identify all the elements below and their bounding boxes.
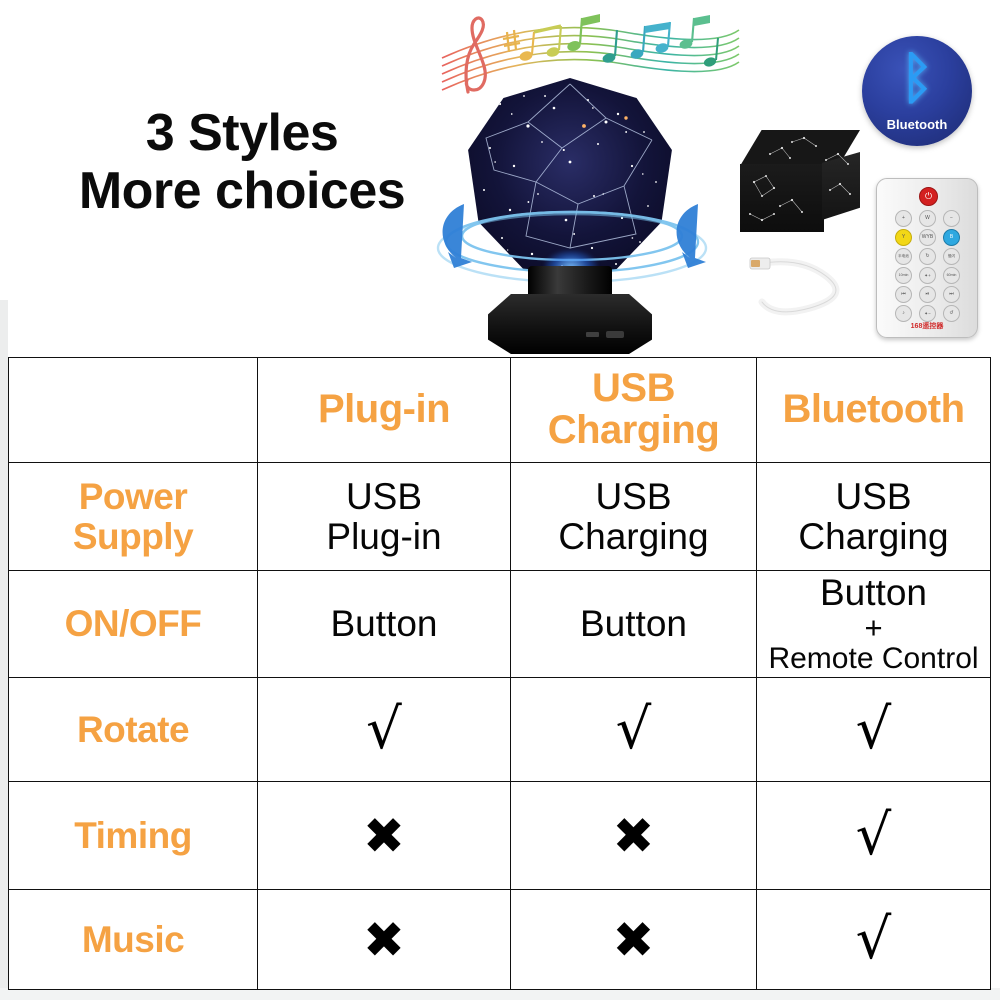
remote-control: ⏻ + W − Y WYB B 半电池 ↻ 慢闪 10min ✦+ 60min …	[876, 178, 978, 338]
remote-button-timer-10min[interactable]: 10min	[895, 267, 912, 284]
table-row-music: Music ✖ ✖ √	[9, 890, 991, 990]
star-projector-lamp	[440, 78, 700, 354]
cell-power-plugin-line-2: Plug-in	[326, 516, 441, 557]
header-cell-feature	[9, 358, 258, 463]
remote-button-half-power[interactable]: 半电池	[895, 248, 912, 265]
cell-onoff-bt-plus: +	[761, 612, 986, 643]
header-cell-plugin: Plug-in	[258, 358, 511, 463]
cell-power-bluetooth: USB Charging	[757, 463, 991, 571]
cross-icon: ✖	[363, 811, 405, 861]
feature-label-music: Music	[9, 890, 258, 990]
cross-icon: ✖	[363, 915, 405, 965]
table-row-on-off: ON/OFF Button Button Button + Remote Con…	[9, 571, 991, 678]
constellation-gift-box	[740, 130, 860, 235]
remote-button-next[interactable]: ⏭	[943, 286, 960, 303]
table-row-timing: Timing ✖ ✖ √	[9, 782, 991, 890]
cell-timing-plugin: ✖	[258, 782, 511, 890]
header-usb-line-1: USB	[592, 366, 675, 410]
cell-power-usb-line-2: Charging	[558, 516, 708, 557]
cell-rotate-plugin: √	[258, 678, 511, 782]
hero-section: 3 Styles More choices	[0, 0, 1000, 357]
cell-onoff-bt-line-2: Remote Control	[761, 643, 986, 675]
remote-button-rotate[interactable]: ↻	[919, 248, 936, 265]
cell-onoff-usb: Button	[511, 571, 757, 678]
feature-power-line-2: Supply	[73, 516, 193, 557]
table-row-power-supply: Power Supply USB Plug-in USB Charging US…	[9, 463, 991, 571]
check-icon: √	[856, 912, 892, 968]
cell-onoff-bt-line-1: Button	[820, 572, 927, 613]
cell-power-plugin-line-1: USB	[346, 476, 422, 517]
gift-box-front	[740, 164, 824, 232]
cell-power-usb: USB Charging	[511, 463, 757, 571]
cell-timing-usb: ✖	[511, 782, 757, 890]
bluetooth-icon: ᛒ	[862, 48, 972, 108]
gift-box-side	[822, 152, 860, 220]
cross-icon: ✖	[613, 811, 655, 861]
remote-button-wyb[interactable]: WYB	[919, 229, 936, 246]
remote-button-white[interactable]: W	[919, 210, 936, 227]
cell-rotate-usb: √	[511, 678, 757, 782]
remote-button-speed-up[interactable]: ✦+	[919, 267, 936, 284]
check-icon: √	[366, 702, 402, 758]
cell-power-bt-line-2: Charging	[798, 516, 948, 557]
feature-label-rotate: Rotate	[9, 678, 258, 782]
feature-power-line-1: Power	[79, 476, 188, 517]
cell-rotate-bluetooth: √	[757, 678, 991, 782]
remote-button-brightness-up[interactable]: +	[895, 210, 912, 227]
remote-button-previous[interactable]: ⏮	[895, 286, 912, 303]
remote-button-slow-flash[interactable]: 慢闪	[943, 248, 960, 265]
headline-line-1: 3 Styles	[42, 104, 442, 162]
check-icon: √	[616, 702, 652, 758]
cell-power-bt-line-1: USB	[835, 476, 911, 517]
remote-button-blue[interactable]: B	[943, 229, 960, 246]
remote-button-music[interactable]: ♪	[895, 305, 912, 322]
remote-model-label: 168遥控器	[877, 321, 977, 331]
remote-button-yellow[interactable]: Y	[895, 229, 912, 246]
header-cell-bluetooth: Bluetooth	[757, 358, 991, 463]
cell-onoff-bluetooth: Button + Remote Control	[757, 571, 991, 678]
cell-timing-bluetooth: √	[757, 782, 991, 890]
lamp-ports-icon	[584, 328, 630, 342]
product-comparison-infographic: 3 Styles More choices	[0, 0, 1000, 1000]
bluetooth-badge-label: Bluetooth	[862, 117, 972, 132]
cross-icon: ✖	[613, 915, 655, 965]
check-icon: √	[856, 702, 892, 758]
comparison-table: Plug-in USB Charging Bluetooth Power Sup…	[8, 357, 991, 990]
lamp-base	[488, 294, 652, 354]
table-header-row: Plug-in USB Charging Bluetooth	[9, 358, 991, 463]
headline-line-2: More choices	[42, 162, 442, 220]
check-icon: √	[856, 808, 892, 864]
remote-button-loop[interactable]: ↺	[943, 305, 960, 322]
feature-label-power-supply: Power Supply	[9, 463, 258, 571]
cell-onoff-plugin: Button	[258, 571, 511, 678]
remote-power-button[interactable]: ⏻	[919, 187, 938, 206]
remote-button-play-pause[interactable]: ⏯	[919, 286, 936, 303]
usb-cable	[748, 250, 878, 322]
cell-power-plugin: USB Plug-in	[258, 463, 511, 571]
cell-music-plugin: ✖	[258, 890, 511, 990]
remote-button-timer-60min[interactable]: 60min	[943, 267, 960, 284]
remote-button-speed-down[interactable]: ✦−	[919, 305, 936, 322]
page-title: 3 Styles More choices	[42, 104, 442, 220]
bluetooth-badge: ᛒ Bluetooth	[862, 36, 972, 146]
header-usb-line-2: Charging	[548, 408, 720, 452]
header-cell-usb-charging: USB Charging	[511, 358, 757, 463]
feature-label-timing: Timing	[9, 782, 258, 890]
table-row-rotate: Rotate √ √ √	[9, 678, 991, 782]
cell-power-usb-line-1: USB	[595, 476, 671, 517]
feature-label-on-off: ON/OFF	[9, 571, 258, 678]
cell-music-usb: ✖	[511, 890, 757, 990]
cell-music-bluetooth: √	[757, 890, 991, 990]
page-edge-left	[0, 300, 8, 990]
remote-button-brightness-down[interactable]: −	[943, 210, 960, 227]
